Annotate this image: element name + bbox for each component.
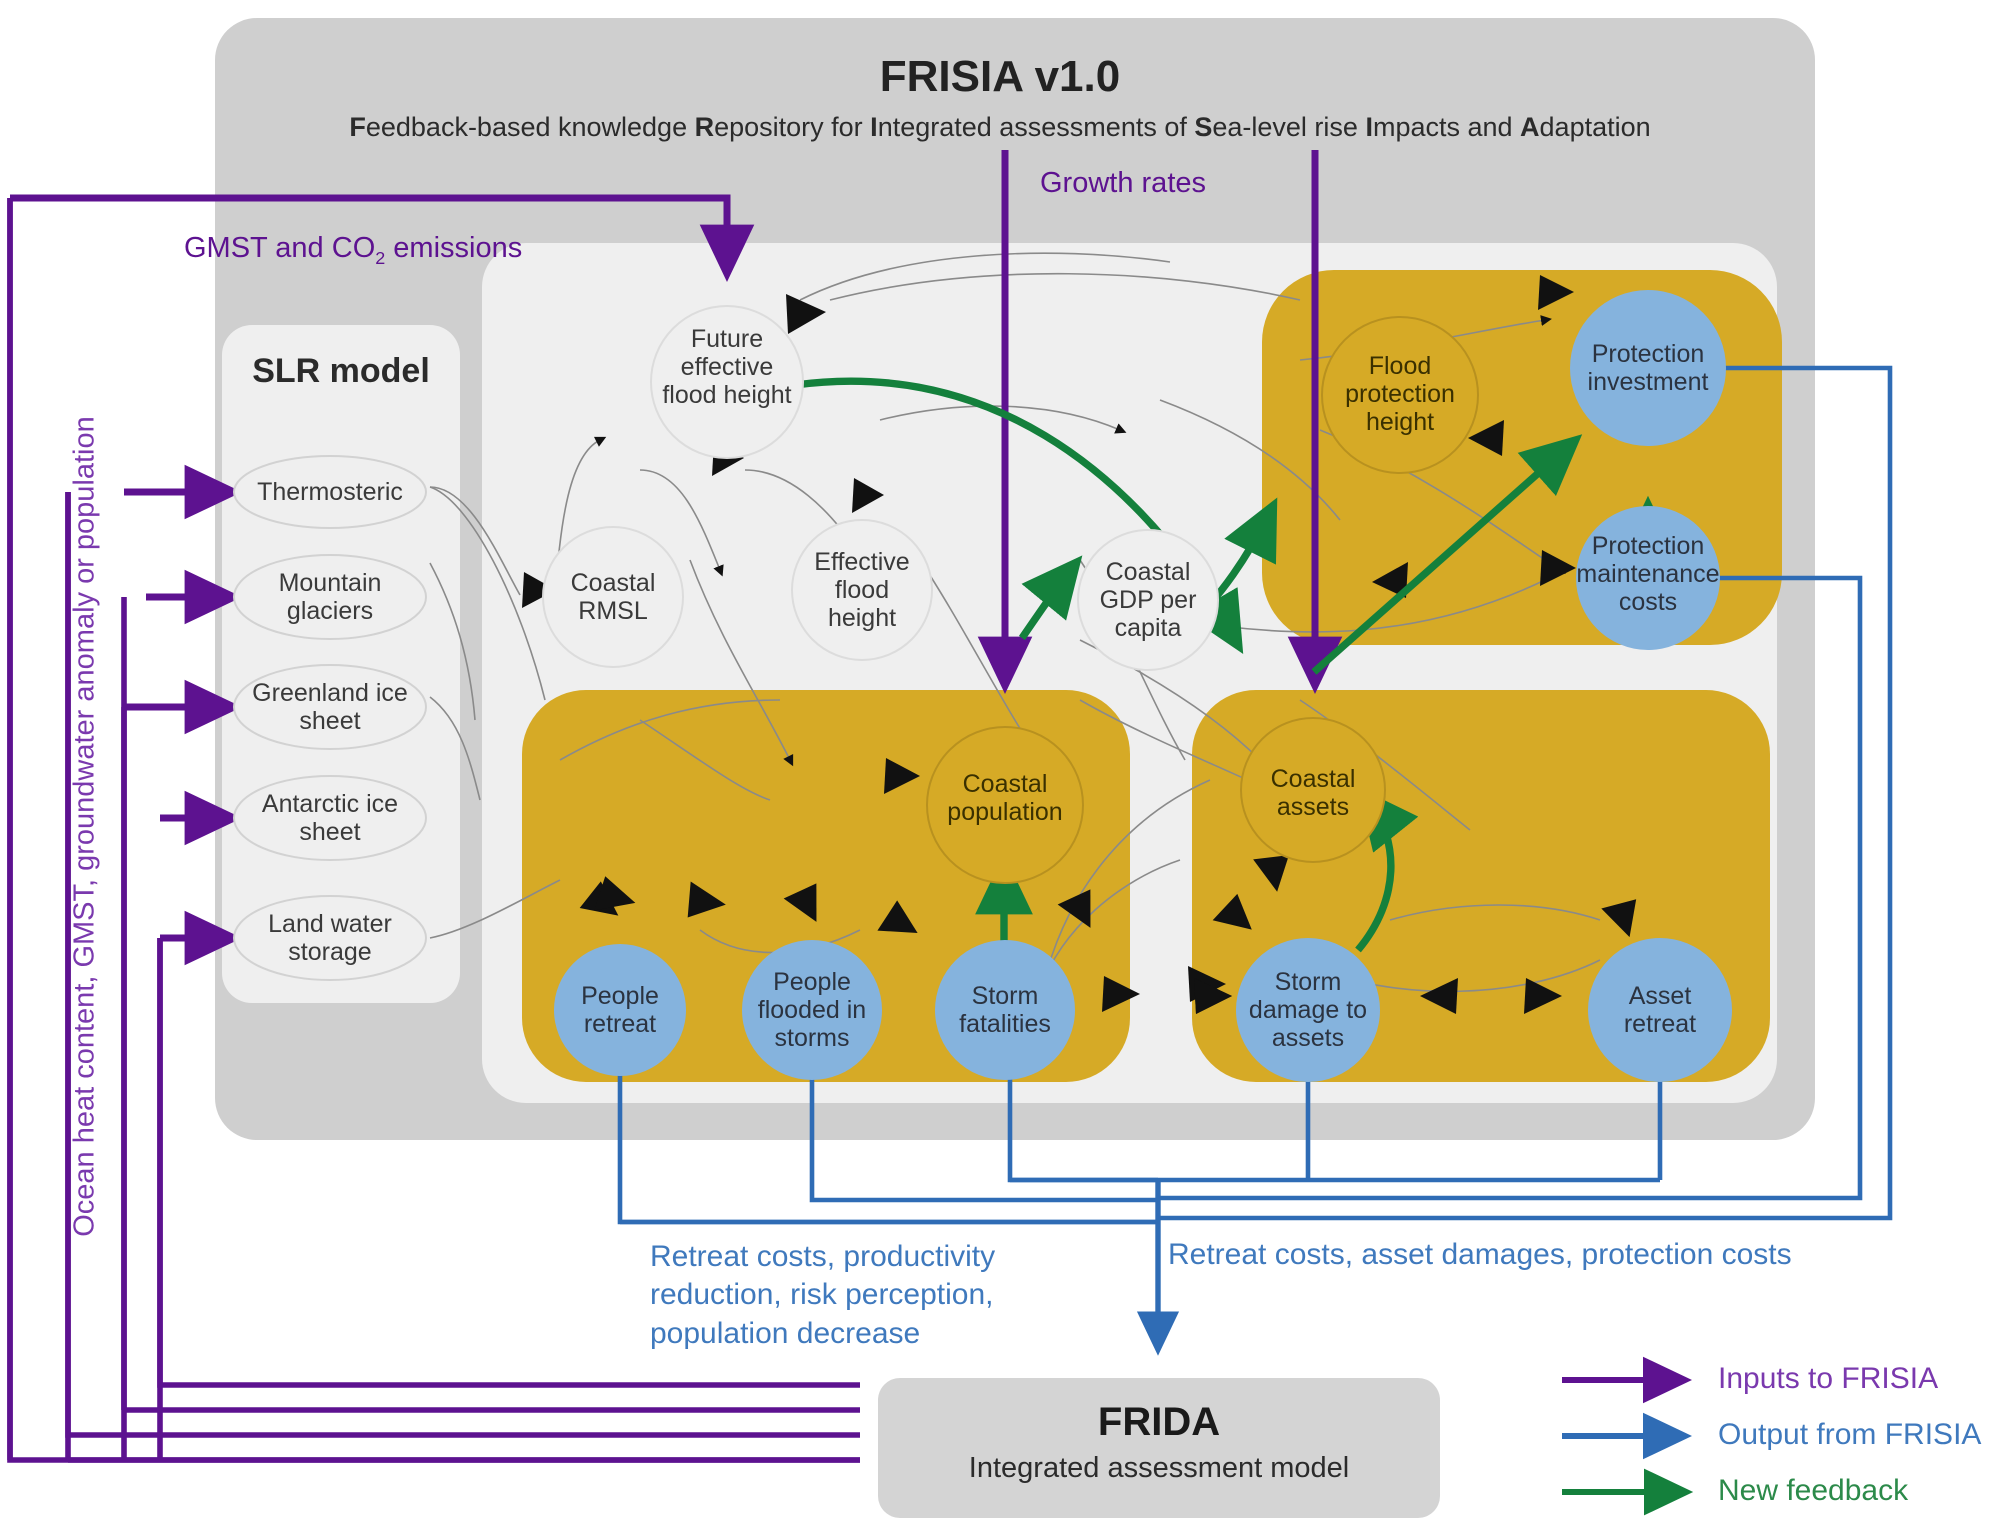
frida-box xyxy=(878,1378,1440,1518)
node-effective-flood-height[interactable]: Effective flood height xyxy=(802,548,922,632)
slr-model-title: SLR model xyxy=(222,352,460,391)
node-future-effective-flood-height[interactable]: Future effective flood height xyxy=(655,325,799,409)
node-asset-retreat[interactable]: Asset retreat xyxy=(1592,982,1728,1038)
legend-item-inputs-to-frisia: Inputs to FRISIA xyxy=(1718,1362,1938,1396)
node-protection-maintenance-costs[interactable]: Protection maintenance costs xyxy=(1558,532,1738,616)
node-coastal-gdp-per-capita[interactable]: Coastal GDP per capita xyxy=(1088,558,1208,642)
label-output-left: Retreat costs, productivity reduction, r… xyxy=(650,1238,1070,1353)
slr-item-greenland-ice-sheet[interactable]: Greenland ice sheet xyxy=(242,679,418,735)
node-people-flooded-in-storms[interactable]: People flooded in storms xyxy=(740,968,884,1052)
legend-item-new-feedback: New feedback xyxy=(1718,1474,1908,1508)
slr-item-thermosteric[interactable]: Thermosteric xyxy=(234,478,426,506)
node-people-retreat[interactable]: People retreat xyxy=(548,982,692,1038)
legend-arrows xyxy=(1562,1380,1680,1492)
node-coastal-assets[interactable]: Coastal assets xyxy=(1245,765,1381,821)
node-coastal-rmsl[interactable]: Coastal RMSL xyxy=(548,569,678,625)
slr-item-land-water-storage[interactable]: Land water storage xyxy=(250,910,410,966)
node-flood-protection-height[interactable]: Flood protection height xyxy=(1325,352,1475,436)
label-growth-rates: Growth rates xyxy=(1040,167,1206,200)
node-storm-fatalities[interactable]: Storm fatalities xyxy=(935,982,1075,1038)
label-gmst-co2-emissions: GMST and CO2 emissions xyxy=(184,232,522,269)
label-vertical-inputs: Ocean heat content, GMST, groundwater an… xyxy=(69,397,102,1257)
node-storm-damage-to-assets[interactable]: Storm damage to assets xyxy=(1228,968,1388,1052)
label-output-right: Retreat costs, asset damages, protection… xyxy=(1168,1238,1792,1272)
frida-title: FRIDA xyxy=(878,1400,1440,1445)
page-subtitle: Feedback-based knowledge Repository for … xyxy=(0,112,2000,143)
frida-subtitle: Integrated assessment model xyxy=(878,1452,1440,1485)
node-protection-investment[interactable]: Protection investment xyxy=(1562,340,1734,396)
node-coastal-population[interactable]: Coastal population xyxy=(920,770,1090,826)
legend-item-output-from-frisia: Output from FRISIA xyxy=(1718,1418,1981,1452)
slr-item-antarctic-ice-sheet[interactable]: Antarctic ice sheet xyxy=(242,790,418,846)
page-title: FRISIA v1.0 xyxy=(0,52,2000,102)
slr-item-mountain-glaciers[interactable]: Mountain glaciers xyxy=(242,569,418,625)
